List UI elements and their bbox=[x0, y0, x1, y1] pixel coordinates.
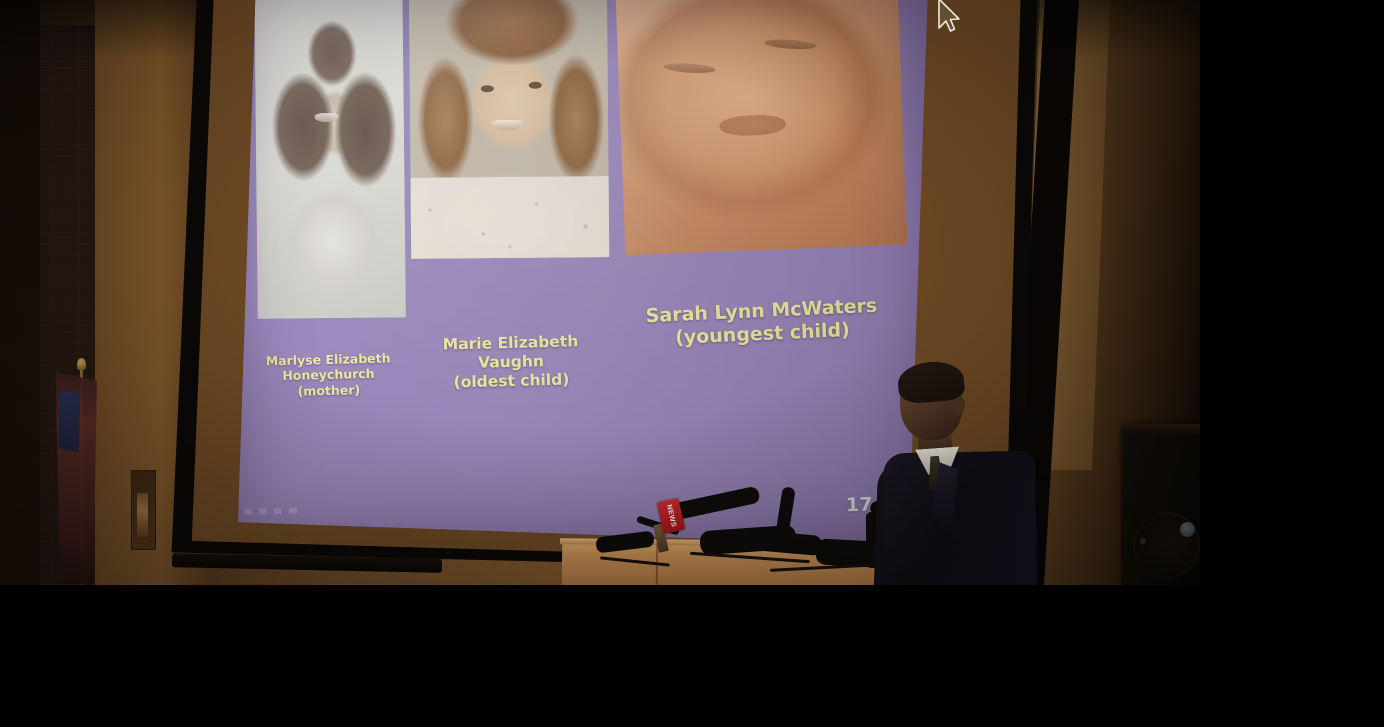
caption-youngest-child: Sarah Lynn McWaters (youngest child) bbox=[641, 295, 883, 352]
extinguisher-icon bbox=[137, 493, 148, 537]
mic-flag-label: NEWS bbox=[665, 504, 677, 528]
letterbox-bottom bbox=[0, 585, 1384, 727]
slide-photo-oldest-child bbox=[409, 0, 610, 259]
projected-slide: Marlyse Elizabeth Honeychurch (mother) M… bbox=[238, 0, 928, 548]
slide-footer-marks bbox=[244, 505, 314, 517]
caption-mother-role: (mother) bbox=[238, 380, 422, 400]
caption-oldest-role: (oldest child) bbox=[416, 369, 606, 393]
flag-finial-icon bbox=[77, 358, 86, 370]
left-dark-edge bbox=[0, 0, 40, 585]
us-flag-canton bbox=[58, 390, 80, 452]
pa-speaker-top bbox=[1122, 424, 1200, 434]
girl-floral-dress bbox=[409, 176, 610, 258]
mother-portrait-render bbox=[254, 0, 406, 319]
slide-photo-youngest-child bbox=[615, 0, 908, 255]
caption-oldest-child: Marie Elizabeth Vaughn (oldest child) bbox=[415, 332, 606, 393]
fire-extinguisher-cabinet bbox=[131, 470, 156, 550]
mouse-pointer-icon[interactable] bbox=[936, 0, 962, 40]
caption-mother-name: Marlyse Elizabeth Honeychurch bbox=[266, 350, 391, 383]
caption-oldest-name: Marie Elizabeth Vaughn bbox=[443, 332, 579, 371]
slide-photo-mother bbox=[254, 0, 406, 319]
pa-speaker-screw bbox=[1140, 538, 1146, 544]
pa-speaker-dustcap bbox=[1180, 522, 1195, 537]
screenshot-root: Marlyse Elizabeth Honeychurch (mother) M… bbox=[0, 0, 1384, 727]
caption-mother: Marlyse Elizabeth Honeychurch (mother) bbox=[238, 350, 422, 400]
speaker-torso bbox=[883, 451, 1037, 585]
photograph-scene: Marlyse Elizabeth Honeychurch (mother) M… bbox=[0, 0, 1200, 585]
letterbox-right bbox=[1200, 0, 1384, 585]
